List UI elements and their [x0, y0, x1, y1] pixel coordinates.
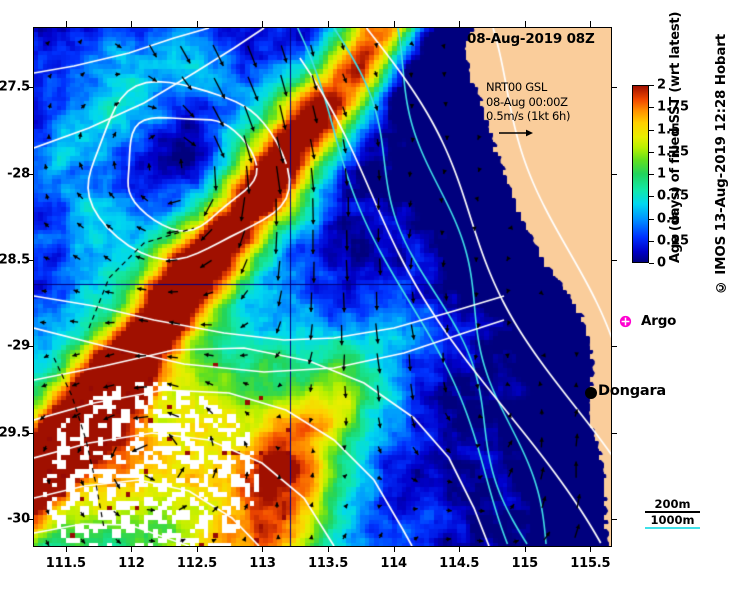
x-axis-tick	[525, 21, 526, 27]
colorbar-tick-label: 0	[657, 256, 666, 271]
y-axis-tick	[611, 174, 617, 175]
y-axis-tick-label: -29	[7, 339, 30, 354]
argo-legend: Argo	[619, 313, 676, 329]
depth-scale-legend: 200m 1000m	[645, 498, 700, 529]
x-axis-tick	[328, 546, 329, 552]
colorbar-tick-label: 1	[657, 167, 666, 182]
colorbar-gradient	[632, 85, 649, 263]
y-axis-tick-label: -28	[7, 166, 30, 181]
y-axis-tick-label: -30	[7, 512, 30, 527]
argo-legend-label: Argo	[641, 313, 676, 329]
x-axis-tick-label: 112	[118, 556, 145, 571]
y-axis-tick-label: -28.5	[0, 253, 30, 268]
y-axis-tick-label: -29.5	[0, 425, 30, 440]
x-axis-tick-label: 114	[380, 556, 407, 571]
argo-float-icon	[619, 315, 632, 328]
colorbar-tick	[649, 107, 654, 108]
x-axis-tick	[394, 21, 395, 27]
x-axis-tick-label: 114.5	[439, 556, 479, 571]
x-axis-tick	[197, 546, 198, 552]
x-axis-tick-label: 111.5	[46, 556, 86, 571]
vector-legend-line-3: 0.5m/s (1kt 6h)	[486, 109, 570, 124]
x-axis-tick	[459, 546, 460, 552]
y-axis-tick-label: -27.5	[0, 80, 30, 95]
y-axis-tick	[611, 519, 617, 520]
x-axis-tick	[131, 21, 132, 27]
colorbar-tick	[649, 174, 654, 175]
y-axis-tick	[611, 87, 617, 88]
map-title: 08-Aug-2019 08Z	[467, 31, 595, 47]
colorbar-tick	[649, 219, 654, 220]
x-axis-tick	[525, 546, 526, 552]
x-axis-tick	[262, 546, 263, 552]
x-axis-tick-label: 115.5	[570, 556, 610, 571]
x-axis-tick	[459, 21, 460, 27]
colorbar-tick	[649, 130, 654, 131]
colorbar-title: Age (days) of filled SST (wrt latest)	[668, 85, 683, 263]
colorbar-tick	[649, 85, 654, 86]
place-label-dongara: Dongara	[598, 383, 666, 399]
credit-text: © IMOS 13-Aug-2019 12:28 Hobart	[713, 34, 729, 295]
colorbar-tick-label: 2	[657, 78, 666, 93]
y-axis-tick	[611, 346, 617, 347]
x-axis-tick	[394, 546, 395, 552]
reference-arrow-icon	[499, 128, 533, 138]
x-axis-tick	[197, 21, 198, 27]
vector-legend-line-2: 08-Aug 00:00Z	[486, 95, 570, 110]
y-axis-tick	[611, 433, 617, 434]
x-axis-tick	[66, 546, 67, 552]
x-axis-tick	[131, 546, 132, 552]
scalebar-label-1000m: 1000m	[645, 514, 700, 527]
vector-legend-line-1: NRT00 GSL	[486, 80, 570, 95]
x-axis-tick-label: 115	[511, 556, 538, 571]
colorbar-tick	[649, 263, 654, 264]
colorbar-tick	[649, 196, 654, 197]
x-axis-tick-label: 113	[249, 556, 276, 571]
x-axis-tick	[328, 21, 329, 27]
x-axis-tick-label: 113.5	[308, 556, 348, 571]
colorbar-tick	[649, 152, 654, 153]
colorbar-tick	[649, 241, 654, 242]
x-axis-tick	[262, 21, 263, 27]
x-axis-tick	[590, 21, 591, 27]
scalebar-label-200m: 200m	[645, 498, 700, 511]
city-dot-icon	[585, 387, 597, 399]
x-axis-tick	[590, 546, 591, 552]
y-axis-tick	[611, 260, 617, 261]
x-axis-tick	[66, 21, 67, 27]
x-axis-tick-label: 112.5	[177, 556, 217, 571]
current-vector-legend: NRT00 GSL 08-Aug 00:00Z 0.5m/s (1kt 6h)	[486, 80, 570, 124]
scalebar-line-1000m	[645, 527, 700, 529]
colorbar: 21.751.51.2510.750.50.250	[632, 85, 649, 263]
